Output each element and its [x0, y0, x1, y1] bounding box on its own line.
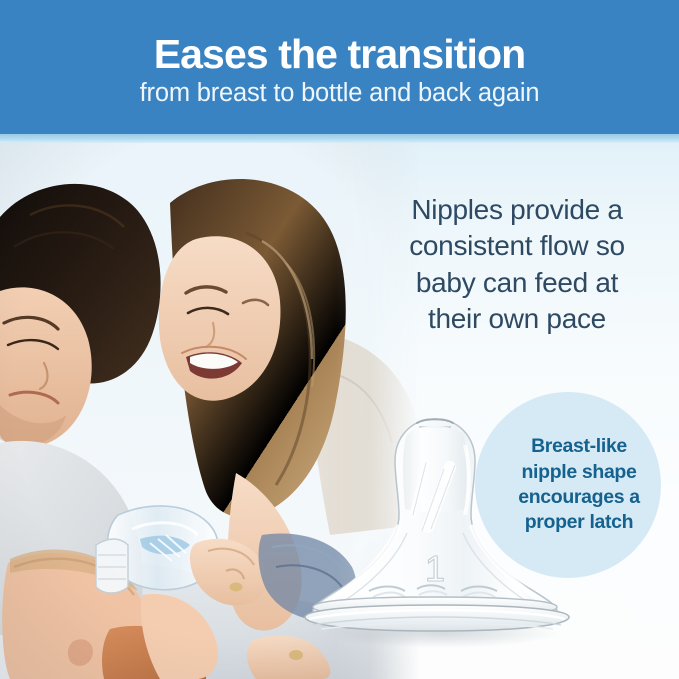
flow-rate-marking: 1 [425, 548, 445, 589]
product-nipple-image: 1 [295, 405, 575, 655]
feature-description-line: their own pace [372, 301, 662, 337]
feature-description-line: baby can feed at [372, 265, 662, 301]
feature-description-line: Nipples provide a [372, 192, 662, 228]
feature-description: Nipples provide a consistent flow so bab… [372, 192, 662, 337]
product-marketing-image: Eases the transition from breast to bott… [0, 0, 679, 679]
header-divider-strip [0, 134, 679, 143]
feature-description-line: consistent flow so [372, 228, 662, 264]
page-title: Eases the transition [154, 33, 526, 75]
page-subtitle: from breast to bottle and back again [140, 79, 540, 108]
header-banner: Eases the transition from breast to bott… [0, 0, 679, 134]
content-stage: Nipples provide a consistent flow so bab… [0, 143, 679, 679]
silicone-nipple-illustration: 1 [295, 405, 575, 655]
